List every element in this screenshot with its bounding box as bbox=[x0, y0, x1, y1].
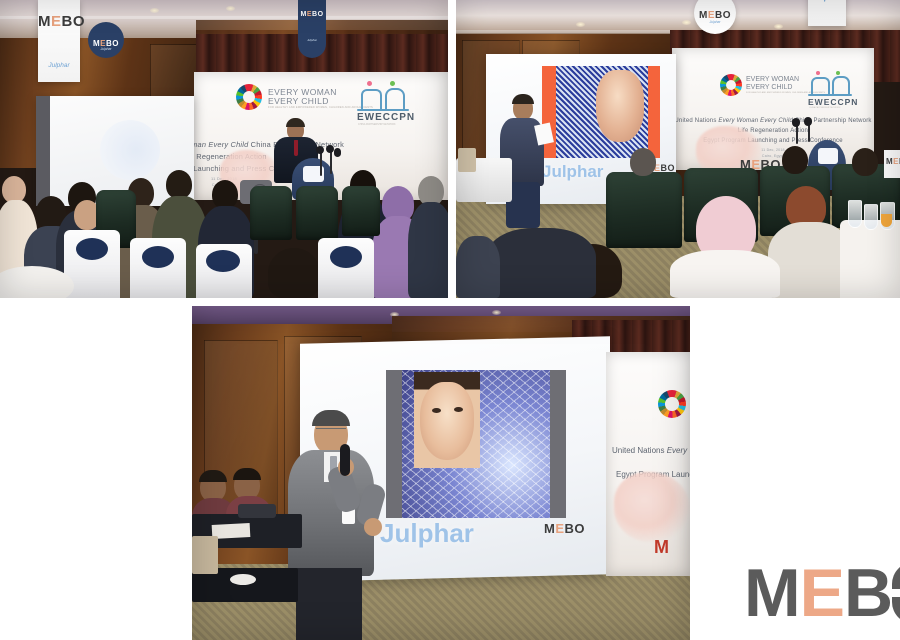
photo-vignette bbox=[192, 306, 690, 640]
logo-letter-e: E bbox=[800, 562, 844, 624]
photo-bottom-center[interactable]: Julphar MEBO United Nations Every Woman … bbox=[192, 306, 690, 640]
photo-vignette bbox=[456, 0, 900, 298]
photo-top-right[interactable]: EVERY WOMAN EVERY CHILD FOR HEALTHY AND … bbox=[456, 0, 900, 298]
photo-vignette bbox=[0, 0, 448, 298]
logo-letter-m: M bbox=[744, 562, 800, 624]
logo-letter-o-icon bbox=[892, 562, 900, 624]
mebo-brand-logo: M E B bbox=[744, 562, 900, 624]
collage-canvas: EVERY WOMAN EVERY CHILD FOR HEALTHY AND … bbox=[0, 0, 900, 640]
logo-letter-b: B bbox=[844, 562, 892, 624]
photo-top-left[interactable]: EVERY WOMAN EVERY CHILD FOR HEALTHY AND … bbox=[0, 0, 448, 298]
